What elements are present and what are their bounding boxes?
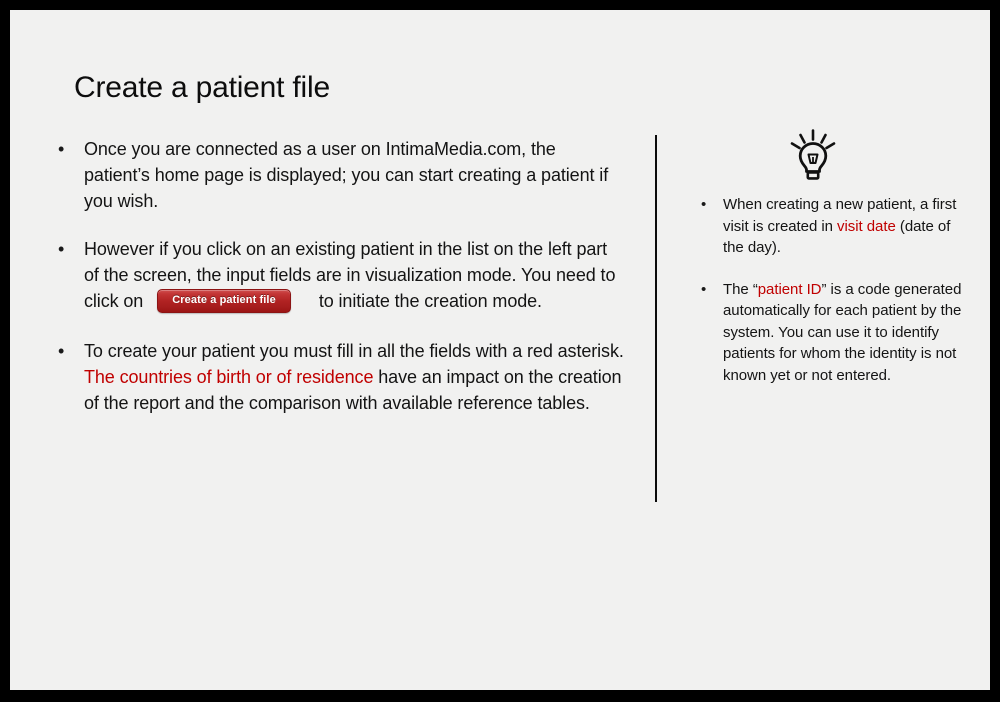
list-item: • To create your patient you must fill i… (44, 338, 624, 416)
bullet-segment-emphasis: The countries of birth or of residence (84, 367, 373, 387)
tips-list: • When creating a new patient, a first v… (690, 194, 970, 406)
list-item: • The “patient ID” is a code generated a… (690, 279, 970, 387)
bullet-marker-icon: • (58, 136, 64, 162)
bullet-text: To create your patient you must fill in … (84, 338, 624, 416)
page-title: Create a patient file (74, 70, 330, 106)
list-item: • When creating a new patient, a first v… (690, 194, 970, 259)
bullet-text: Once you are connected as a user on Inti… (84, 136, 624, 214)
slide-canvas: Create a patient file • Once you are con… (10, 10, 990, 690)
bullet-marker-icon: • (58, 236, 64, 262)
bullet-marker-icon: • (701, 279, 706, 301)
tip-segment-emphasis: visit date (837, 218, 896, 235)
bullet-marker-icon: • (701, 194, 706, 216)
tip-text: The “patient ID” is a code generated aut… (723, 279, 970, 387)
slide-frame: Create a patient file • Once you are con… (0, 0, 1000, 702)
bullet-segment-text: to initiate the creation mode. (319, 291, 542, 311)
lightbulb-icon (785, 128, 841, 184)
left-content-column: • Once you are connected as a user on In… (44, 136, 624, 438)
tip-segment-text: The “ (723, 281, 758, 298)
bullet-segment-text: To create your patient you must fill in … (84, 341, 624, 361)
list-item: • However if you click on an existing pa… (44, 236, 624, 316)
tip-text: When creating a new patient, a first vis… (723, 194, 970, 259)
tip-segment-emphasis: patient ID (758, 281, 822, 298)
list-item: • Once you are connected as a user on In… (44, 136, 624, 214)
vertical-divider (655, 135, 657, 502)
bullet-text: However if you click on an existing pati… (84, 236, 624, 316)
bullet-marker-icon: • (58, 338, 64, 364)
bullet-segment-text: Once you are connected as a user on Inti… (84, 139, 608, 211)
create-a-patient-file-button[interactable]: Create a patient file (157, 289, 291, 313)
